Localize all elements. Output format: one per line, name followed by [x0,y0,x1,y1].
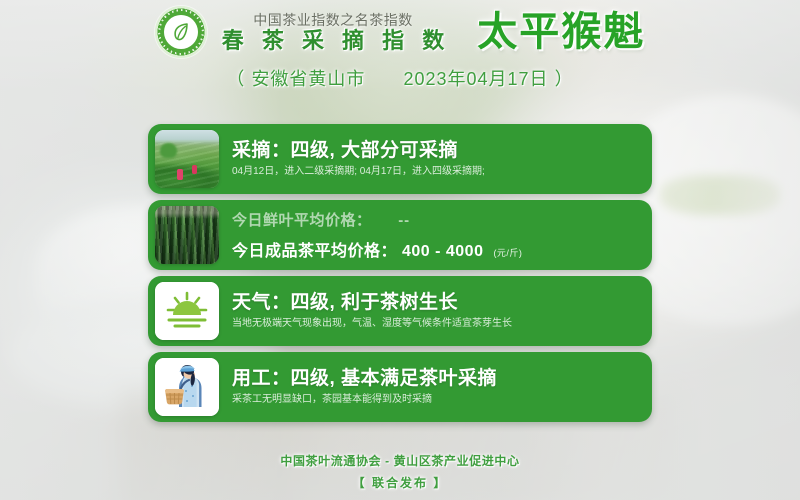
picker-figure [177,169,183,180]
header-subtitle: （ 安徽省黄山市 2023年04月17日 ） [0,65,800,91]
header-row: 中国茶业指数之名茶指数 春 茶 采 摘 指 数 太平猴魁 [0,6,800,58]
card-weather-text: 天气：四级, 利于茶树生长 当地无极端天气现象出现，气温、湿度等气候条件适宜茶芽… [219,292,642,330]
sunrise-weather-icon [155,282,219,340]
card-labor-title: 用工：四级, 基本满足茶叶采摘 [232,368,642,390]
tea-index-poster: 中国茶业指数之名茶指数 春 茶 采 摘 指 数 太平猴魁 （ 安徽省黄山市 20… [0,0,800,500]
fresh-leaf-price-label: 今日鲜叶平均价格： [232,212,372,229]
card-price[interactable]: 今日鲜叶平均价格： -- 今日成品茶平均价格： 400 - 4000 (元/斤) [148,200,652,270]
tea-plantation-photo [155,130,219,188]
fresh-leaf-price-value: -- [398,212,410,229]
card-price-text: 今日鲜叶平均价格： -- 今日成品茶平均价格： 400 - 4000 (元/斤) [219,209,642,261]
seal-inner-disc [164,15,198,49]
header-eyebrow: 中国茶业指数之名茶指数 [253,13,413,27]
page-title: 太平猴魁 [477,12,645,52]
leaves-texture [155,206,219,264]
index-card-list: 采摘：四级, 大部分可采摘 04月12日，进入二级采摘期; 04月17日，进入四… [148,124,652,428]
icon-plate [155,282,219,340]
header-index-name: 春 茶 采 摘 指 数 [216,30,451,52]
picker-figure [192,165,197,174]
made-tea-price-unit: (元/斤) [493,248,522,258]
tea-picker-worker-icon [155,358,219,416]
card-picking-title: 采摘：四级, 大部分可采摘 [232,140,642,162]
fresh-leaf-price-row: 今日鲜叶平均价格： -- [232,209,642,230]
card-labor[interactable]: 用工：四级, 基本满足茶叶采摘 采茶工无明显缺口，茶园基本能得到及时采摘 [148,352,652,422]
plantation-field [155,130,219,188]
tea-leaf-seal-icon [155,6,207,58]
card-picking-text: 采摘：四级, 大部分可采摘 04月12日，进入二级采摘期; 04月17日，进入四… [219,140,642,178]
card-weather-title: 天气：四级, 利于茶树生长 [232,292,642,314]
poster-header: 中国茶业指数之名茶指数 春 茶 采 摘 指 数 太平猴魁 （ 安徽省黄山市 20… [0,6,800,91]
date-label: 2023年04月17日 [403,69,548,89]
made-tea-price-label: 今日成品茶平均价格： [232,243,397,260]
card-labor-text: 用工：四级, 基本满足茶叶采摘 采茶工无明显缺口，茶园基本能得到及时采摘 [219,368,642,406]
footer-joint-release: 【 联合发布 】 [0,474,800,491]
fresh-tea-leaves-photo [155,206,219,264]
subtitle-open-paren: （ [226,69,245,89]
made-tea-price-value: 400 - 4000 [402,243,484,260]
header-index-titles: 中国茶业指数之名茶指数 春 茶 采 摘 指 数 [216,13,451,52]
card-labor-desc: 采茶工无明显缺口，茶园基本能得到及时采摘 [232,394,642,406]
plantation-hill [160,143,177,158]
subtitle-close-paren: ） [555,69,574,89]
card-weather-desc: 当地无极端天气现象出现，气温、湿度等气候条件适宜茶芽生长 [232,318,642,330]
card-picking[interactable]: 采摘：四级, 大部分可采摘 04月12日，进入二级采摘期; 04月17日，进入四… [148,124,652,194]
location-label: 安徽省黄山市 [251,69,365,89]
card-weather[interactable]: 天气：四级, 利于茶树生长 当地无极端天气现象出现，气温、湿度等气候条件适宜茶芽… [148,276,652,346]
footer-publishers: 中国茶叶流通协会 - 黄山区茶产业促进中心 [0,452,800,469]
made-tea-price-row: 今日成品茶平均价格： 400 - 4000 (元/斤) [232,237,642,261]
poster-footer: 中国茶叶流通协会 - 黄山区茶产业促进中心 【 联合发布 】 [0,452,800,491]
card-picking-desc: 04月12日，进入二级采摘期; 04月17日，进入四级采摘期; [232,166,642,178]
icon-plate [155,358,219,416]
